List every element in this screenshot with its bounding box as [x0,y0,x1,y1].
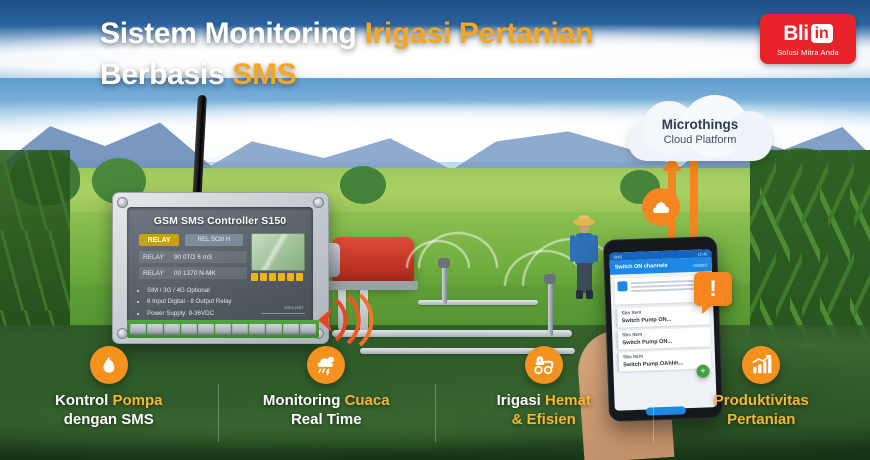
title-highlight-1: Irigasi Pertanian [365,17,593,50]
cloud-platform-subtitle: Cloud Platform [620,134,780,146]
relay-row: RELAY 00 1370 N-MK [139,267,247,279]
gsm-sms-controller-device: GSM SMS Controller S150 RELAY REL SCtrl … [112,192,329,344]
feature-item-irigasi-hemat[interactable]: Irigasi Hemat & Efisien [435,362,653,460]
title-plain-1: Sistem Monitoring [100,17,365,50]
terminal-block [127,320,319,338]
terminal-pin [198,324,214,335]
screw-icon [117,197,128,208]
label-highlight: & Efisien [512,411,576,428]
led-indicator-bar [251,273,303,281]
weather-cloud-rain-icon [307,346,345,384]
relay-row-label: RELAY [143,254,164,261]
farmer-torso [575,233,594,265]
feature-label-line2: dengan SMS [64,411,154,428]
title-line-2: Berbasis SMS [100,55,680,96]
relay-row-value: 00 1370 N-MK [174,270,216,277]
feature-label-line1: Produktivitas [714,392,809,409]
sprinkler-post [442,266,447,304]
faucet-tap-icon [525,346,563,384]
terminal-pin [283,324,299,335]
device-face-panel: GSM SMS Controller S150 RELAY REL SCtrl … [127,207,313,327]
terminal-pin [164,324,180,335]
device-title: GSM SMS Controller S150 [127,215,313,227]
status-left-text: SMS [613,254,622,259]
logo-brand-box: in [811,24,833,43]
infographic-poster: GSM SMS Controller S150 RELAY REL SCtrl … [0,0,870,460]
rf-signal-waves [312,292,376,348]
relay-badge: RELAY [139,234,179,246]
cloud-platform-title: Microthings [620,117,780,132]
app-bar-action[interactable]: related [693,262,707,267]
led-icon [251,273,258,281]
relay-status-chip: REL SCtrl H [185,234,243,246]
lcd-display [251,233,305,271]
brand-logo[interactable]: Bli in Solusi Mitra Anda [760,14,856,64]
water-drop-icon [90,346,128,384]
logo-brand-text: Bli [783,22,808,46]
title-line-1: Sistem Monitoring Irigasi Pertanian [100,14,680,55]
feature-label-line2: Pertanian [727,411,795,428]
feature-item-monitoring-cuaca[interactable]: Monitoring Cuaca Real Time [218,362,436,460]
feature-item-produktivitas[interactable]: Produktivitas Pertanian [653,362,870,460]
led-icon [296,273,303,281]
feature-label-line2: & Efisien [512,411,576,428]
cloud-platform-text: Microthings Cloud Platform [620,117,780,146]
feature-item-kontrol-pompa[interactable]: Kontrol Pompa dengan SMS [0,362,218,460]
label-plain: Kontrol [55,392,113,409]
message-body: Switch Pump ON... [622,316,706,325]
feature-bar: Kontrol Pompa dengan SMS Monitoring Cuac… [0,362,870,460]
device-spec-list: SIM / 3G / 4G Optional 8 Input Digital -… [139,285,299,319]
device-underline [261,313,305,314]
label-plain: dengan SMS [64,411,154,428]
feature-label-line1: Monitoring Cuaca [263,392,390,409]
sprinkler-post [548,284,553,336]
led-icon [260,273,267,281]
spec-item: 8 Input Digital - 8 Output Relay [147,296,299,307]
led-icon [287,273,294,281]
info-card-icon [617,281,627,291]
message-body: Switch Pump ON... [622,337,706,346]
sprinkler [430,254,470,304]
terminal-pin [181,324,197,335]
relay-row-value: 90 0TO 6 mS [174,254,213,261]
feature-label-line1: Irigasi Hemat [497,392,591,409]
title-highlight-2: SMS [232,58,296,91]
exclamation-icon: ! [709,278,716,300]
relay-row: RELAY 90 0TO 6 mS [139,251,247,263]
led-icon [269,273,276,281]
status-right-text: 12:45 [697,251,707,256]
terminal-pin [147,324,163,335]
farmer-legs [577,263,592,293]
terminal-pin [249,324,265,335]
farmer-figure [570,218,598,300]
terminal-pin [130,324,146,335]
label-highlight: Produktivitas [714,392,809,409]
label-highlight: Pompa [112,392,162,409]
label-highlight: Pertanian [727,411,795,428]
title-plain-2: Berbasis [100,58,232,91]
alert-notification-bubble: ! [694,272,732,306]
relay-row-label: RELAY [143,270,164,277]
feature-label-line1: Kontrol Pompa [55,392,163,409]
terminal-pin [215,324,231,335]
feature-label-line2: Real Time [291,411,362,428]
label-plain: Monitoring [263,392,345,409]
cloud-platform-bubble: Microthings Cloud Platform [620,95,780,167]
water-pump [332,237,414,285]
page-title: Sistem Monitoring Irigasi Pertanian Berb… [100,14,680,95]
cloud-upload-icon [642,188,680,226]
led-icon [278,273,285,281]
label-plain: Real Time [291,411,362,428]
farmer-arm-right [593,235,598,262]
terminal-pin [266,324,282,335]
bar-chart-growth-icon [742,346,780,384]
label-plain: Irigasi [497,392,545,409]
farmer-arm-left [570,235,575,262]
logo-tagline: Solusi Mitra Anda [777,48,839,57]
farmer-boot [576,290,583,299]
device-url-text: Sites port [284,305,303,310]
label-highlight: Cuaca [345,392,390,409]
terminal-pin [232,324,248,335]
list-item[interactable]: Sbs Item Switch Pump ON... [615,305,710,327]
farmer-boot [586,290,593,299]
app-bar-title: Switch ON channels [615,263,668,271]
screw-icon [313,197,324,208]
label-highlight: Hemat [545,392,591,409]
list-item[interactable]: Sbs Item Switch Pump ON... [616,327,711,349]
logo-wordmark: Bli in [783,22,833,46]
spec-item: SIM / 3G / 4G Optional [147,285,299,296]
